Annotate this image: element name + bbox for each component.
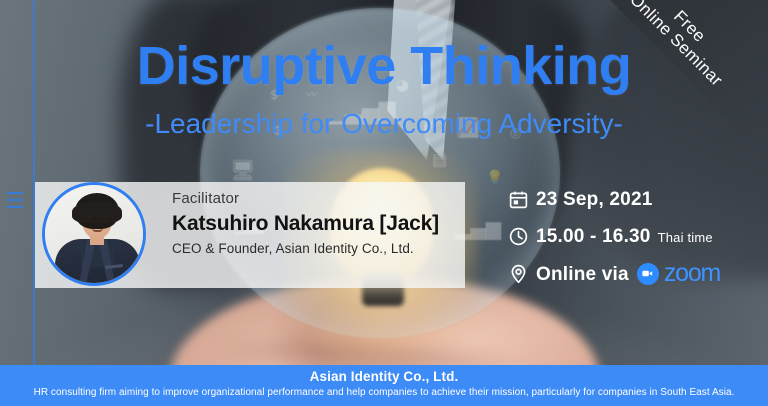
event-date-value: 23 Sep, 2021 (536, 189, 652, 211)
calendar-icon (508, 189, 536, 210)
footer-bar: Asian Identity Co., Ltd. HR consulting f… (0, 365, 768, 406)
clock-icon (508, 226, 536, 247)
zoom-video-camera-icon (637, 263, 659, 285)
facilitator-role: CEO & Founder, Asian Identity Co., Ltd. (172, 241, 439, 256)
footer-description: HR consulting firm aiming to improve org… (0, 387, 768, 398)
event-time-note: Thai time (658, 230, 713, 245)
seminar-poster: ▁▄▆ 〰 ▁▃▅▇ 🖥 ⚙ $ $ ▂▄▆ 📈 ▤ 💡 ◕ ◎ ⚙ Free … (0, 0, 768, 406)
event-details: 23 Sep, 2021 15.00 - 16.30 Thai time (508, 183, 760, 294)
footer-company-name: Asian Identity Co., Ltd. (0, 369, 768, 384)
facilitator-label: Facilitator (172, 190, 439, 207)
avatar (42, 182, 146, 286)
event-date-row: 23 Sep, 2021 (508, 183, 760, 216)
left-dash-marks (7, 192, 23, 213)
event-time-value: 15.00 - 16.30 (536, 226, 651, 248)
monitor-icon: 🖥 (230, 158, 255, 182)
zoom-logo[interactable]: zoom (637, 261, 720, 286)
event-time-row: 15.00 - 16.30 Thai time (508, 220, 760, 253)
facilitator-name: Katsuhiro Nakamura [Jack] (172, 212, 439, 236)
event-location-row: Online via zoom (508, 257, 760, 290)
zoom-wordmark: zoom (664, 261, 720, 286)
location-pin-icon (508, 263, 536, 284)
poster-subtitle: -Leadership for Overcoming Adversity- (0, 110, 768, 138)
facilitator-details: Facilitator Katsuhiro Nakamura [Jack] CE… (172, 190, 439, 256)
lightbulb-icon: 💡 (486, 170, 503, 186)
event-location-value: Online via (536, 264, 629, 286)
avatar-photo (45, 185, 143, 283)
poster-title: Disruptive Thinking (0, 39, 768, 93)
